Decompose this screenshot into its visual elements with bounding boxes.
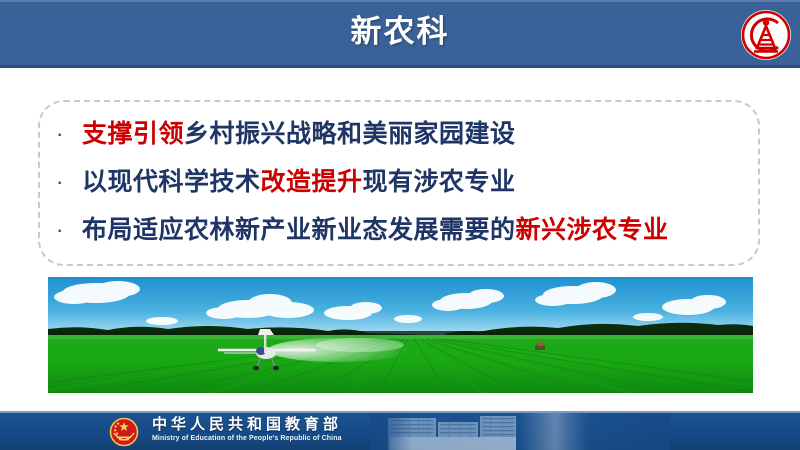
bullet-segment: 改造提升	[261, 168, 363, 196]
bullet-segment: 以现代科学技术	[82, 168, 261, 196]
bullet-text: 布局适应农林新产业新业态发展需要的新兴涉农专业	[82, 206, 669, 254]
list-item: · 以现代科学技术改造提升现有涉农专业	[56, 158, 756, 206]
ministry-title-en: Ministry of Education of the People's Re…	[152, 434, 342, 444]
bullet-marker-icon: ·	[56, 158, 82, 206]
bullet-segment: 支撑引领	[82, 120, 184, 148]
bullet-segment: 布局适应农林新产业新业态发展需要的	[82, 216, 516, 244]
ministry-footer-banner: 中华人民共和国教育部 Ministry of Education of the …	[0, 411, 800, 450]
list-item: · 布局适应农林新产业新业态发展需要的新兴涉农专业	[56, 206, 756, 254]
bullet-text: 支撑引领乡村振兴战略和美丽家园建设	[82, 110, 516, 158]
bullet-marker-icon: ·	[56, 110, 82, 158]
bullet-segment: 现有涉农专业	[363, 168, 516, 196]
university-emblem-icon	[740, 9, 792, 61]
slide-header-bar: 新农科	[0, 0, 800, 68]
page-title: 新农科	[0, 10, 800, 54]
ministry-title-block: 中华人民共和国教育部 Ministry of Education of the …	[152, 415, 342, 444]
ministry-of-education-building-image	[370, 413, 670, 450]
bullet-segment: 乡村振兴战略和美丽家园建设	[184, 120, 516, 148]
bullet-marker-icon: ·	[56, 206, 82, 254]
slide: 新农科 · 支撑引领乡村振兴战略和美丽家园建设 · 以现代科学技术改	[0, 0, 800, 450]
national-emblem-icon	[108, 416, 140, 448]
bullet-text: 以现代科学技术改造提升现有涉农专业	[82, 158, 516, 206]
ministry-title-cn: 中华人民共和国教育部	[152, 415, 342, 434]
list-item: · 支撑引领乡村振兴战略和美丽家园建设	[56, 110, 756, 158]
bullet-list: · 支撑引领乡村振兴战略和美丽家园建设 · 以现代科学技术改造提升现有涉农专业 …	[56, 110, 756, 254]
farm-field-photo	[48, 277, 753, 393]
bullet-segment: 新兴涉农专业	[516, 216, 669, 244]
